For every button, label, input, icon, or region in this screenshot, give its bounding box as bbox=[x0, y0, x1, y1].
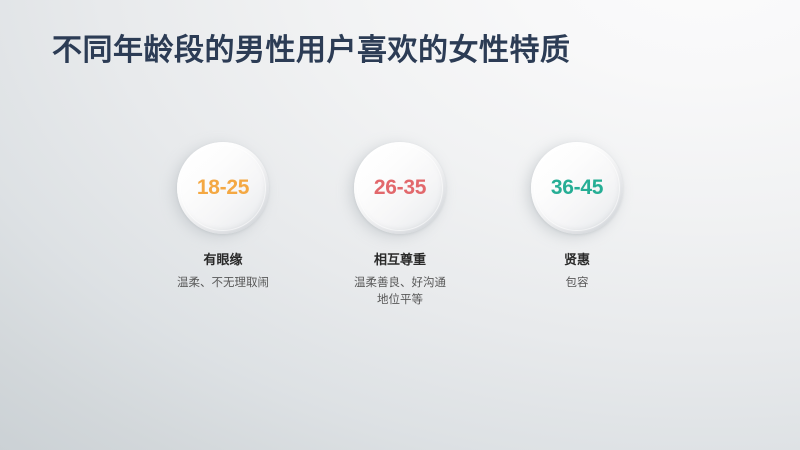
trait-details: 温柔、不无理取闹 bbox=[123, 275, 323, 293]
slide-canvas: 不同年龄段的男性用户喜欢的女性特质 18-25 有眼缘 温柔、不无理取闹 bbox=[0, 0, 800, 450]
age-group-26-35[interactable]: 26-35 相互尊重 温柔善良、好沟通 地位平等 bbox=[300, 142, 500, 310]
trait-detail-line: 温柔善良、好沟通 bbox=[300, 275, 500, 293]
age-badge-circle-36-45[interactable]: 36-45 bbox=[531, 142, 623, 234]
age-badge-circle-26-35[interactable]: 26-35 bbox=[354, 142, 446, 234]
age-group-row: 18-25 有眼缘 温柔、不无理取闹 26-35 相互尊重 温柔善良、好沟通 地… bbox=[0, 142, 800, 342]
trait-heading: 贤惠 bbox=[477, 251, 677, 269]
age-group-36-45[interactable]: 36-45 贤惠 包容 bbox=[477, 142, 677, 292]
page-title: 不同年龄段的男性用户喜欢的女性特质 bbox=[52, 33, 571, 69]
circle-face: 18-25 bbox=[177, 142, 269, 234]
age-range-label: 26-35 bbox=[374, 176, 426, 200]
trait-detail-line: 温柔、不无理取闹 bbox=[123, 275, 323, 293]
trait-heading: 有眼缘 bbox=[123, 251, 323, 269]
trait-detail-line: 地位平等 bbox=[300, 292, 500, 310]
circle-face: 36-45 bbox=[531, 142, 623, 234]
trait-heading: 相互尊重 bbox=[300, 251, 500, 269]
trait-details: 包容 bbox=[477, 275, 677, 293]
trait-detail-line: 包容 bbox=[477, 275, 677, 293]
age-range-label: 36-45 bbox=[551, 176, 603, 200]
age-group-18-25[interactable]: 18-25 有眼缘 温柔、不无理取闹 bbox=[123, 142, 323, 292]
age-badge-circle-18-25[interactable]: 18-25 bbox=[177, 142, 269, 234]
trait-details: 温柔善良、好沟通 地位平等 bbox=[300, 275, 500, 311]
age-range-label: 18-25 bbox=[197, 176, 249, 200]
circle-face: 26-35 bbox=[354, 142, 446, 234]
